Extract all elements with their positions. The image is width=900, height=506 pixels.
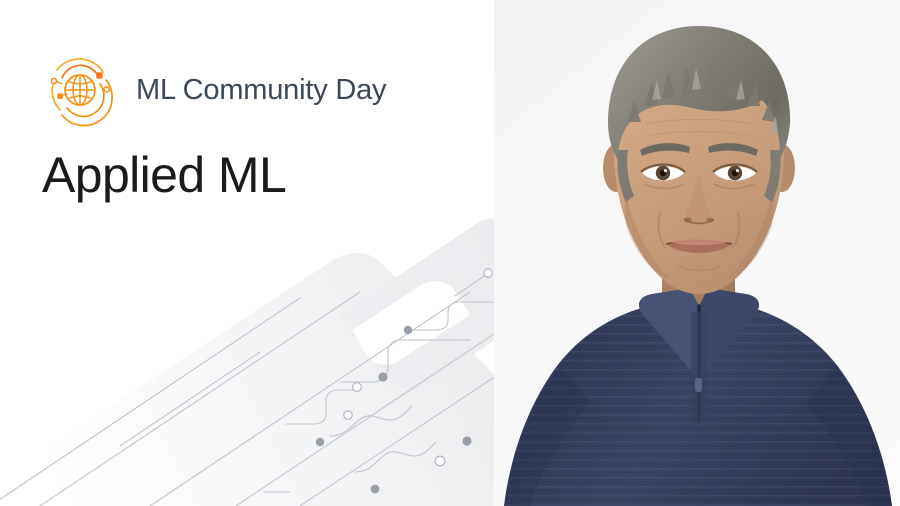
slide-left-panel: ML Community Day Applied ML — [0, 0, 494, 506]
brand-lockup: ML Community Day — [40, 50, 386, 130]
session-title: Applied ML — [42, 147, 286, 205]
presentation-slide: ML Community Day Applied ML — [0, 0, 900, 506]
brand-name: ML Community Day — [136, 76, 386, 105]
globe-orbit-icon — [40, 50, 120, 130]
speaker-headshot-photo — [494, 0, 900, 506]
